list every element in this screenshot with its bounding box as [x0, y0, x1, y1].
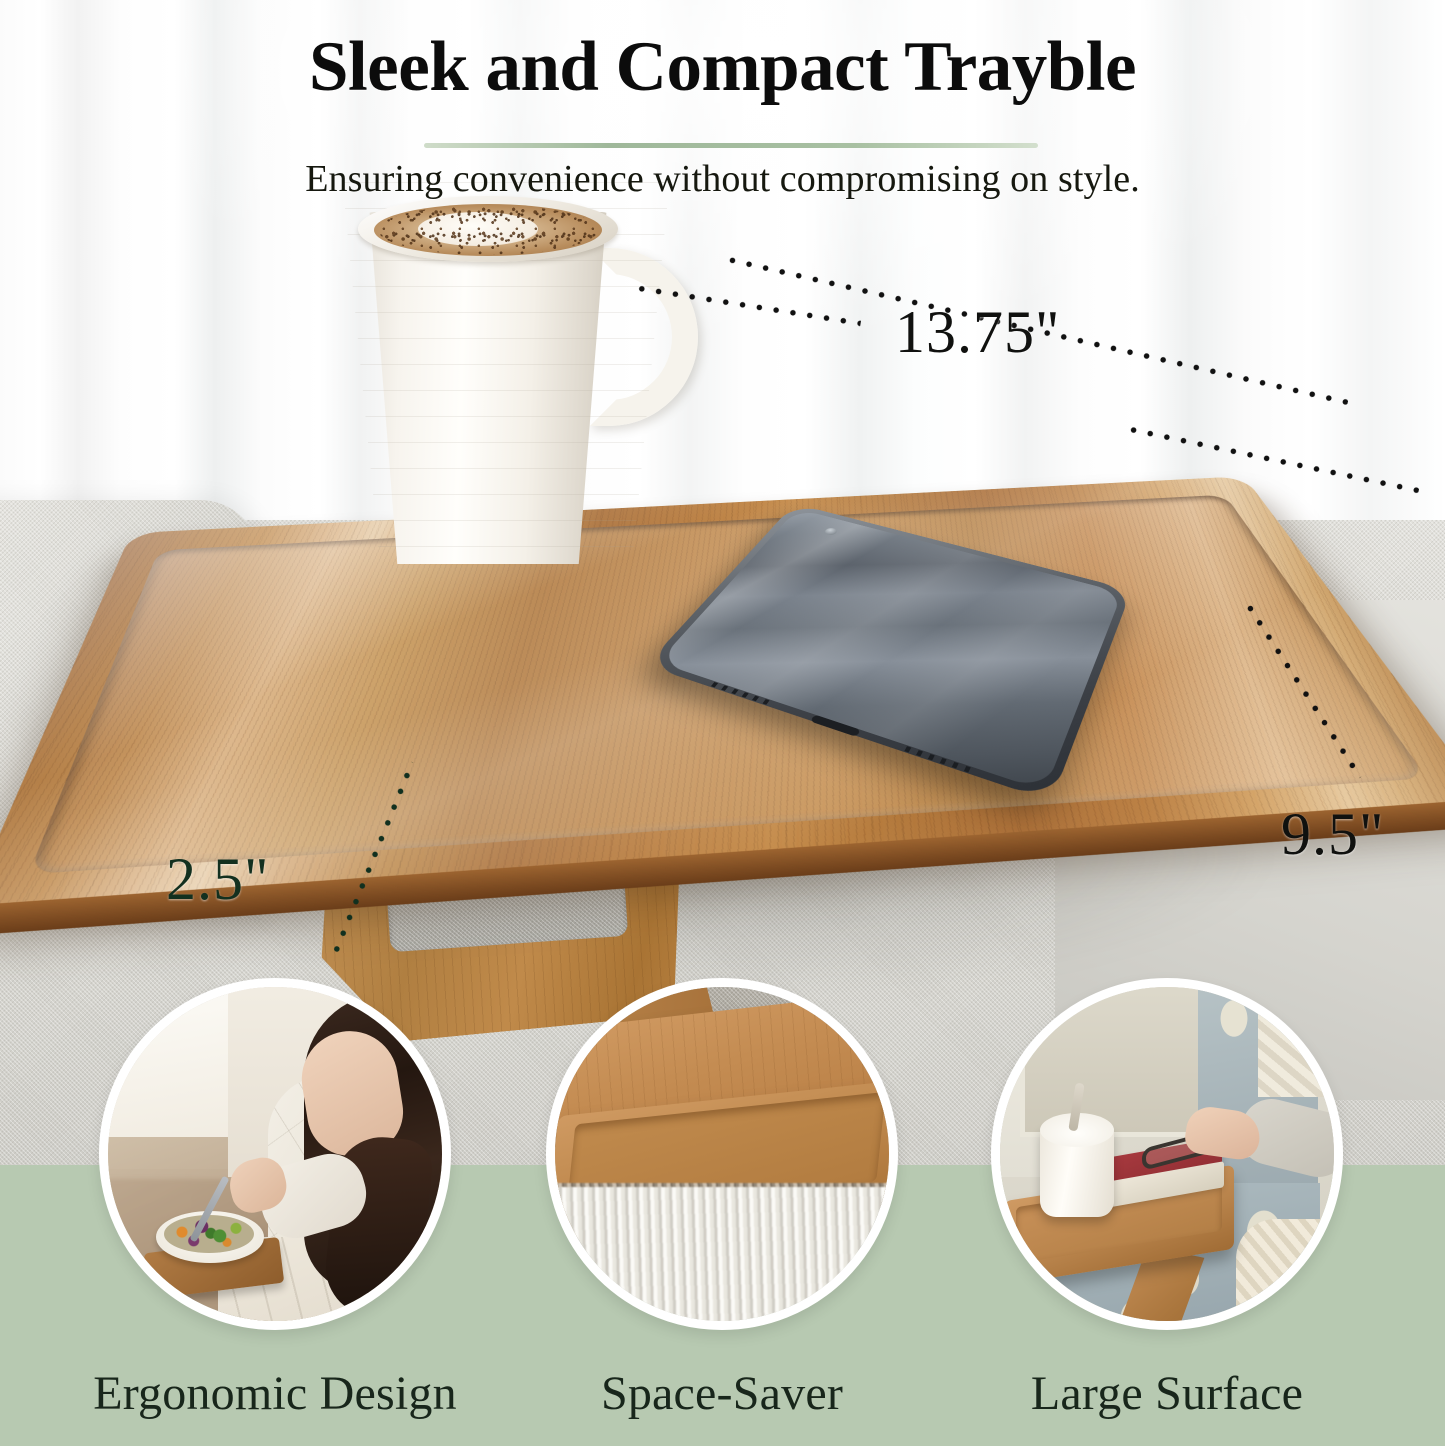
salad-food [164, 1215, 254, 1253]
feature-image-ergonomic-design [99, 978, 451, 1330]
feature-circles [0, 960, 1445, 1380]
knit-throw-upper [1258, 978, 1343, 1097]
shag-rug [546, 1187, 898, 1330]
feature-image-large-surface [991, 978, 1343, 1330]
photo-woman-eating-salad [108, 987, 442, 1321]
page-subtitle: Ensuring convenience without compromisin… [0, 157, 1445, 201]
photo-tray-on-armchair [1000, 987, 1334, 1321]
dimension-label-height: 2.5" [166, 845, 270, 914]
feature-caption-large-surface: Large Surface [967, 1366, 1367, 1421]
feature-image-space-saver [546, 978, 898, 1330]
feature-caption-ergonomic-design: Ergonomic Design [75, 1366, 475, 1421]
knit-throw [1236, 1219, 1343, 1330]
dimension-label-width: 13.75" [895, 298, 1061, 367]
photo-folded-tray-on-rug [555, 987, 889, 1321]
title-divider [424, 143, 1038, 148]
cocoa-dusting [378, 205, 598, 255]
infographic-canvas: Sleek and Compact Trayble Ensuring conve… [0, 0, 1445, 1446]
coffee-mug [332, 182, 680, 572]
page-title: Sleek and Compact Trayble [0, 30, 1445, 105]
dimension-label-depth: 9.5" [1281, 800, 1385, 869]
feature-caption-space-saver: Space-Saver [522, 1366, 922, 1421]
